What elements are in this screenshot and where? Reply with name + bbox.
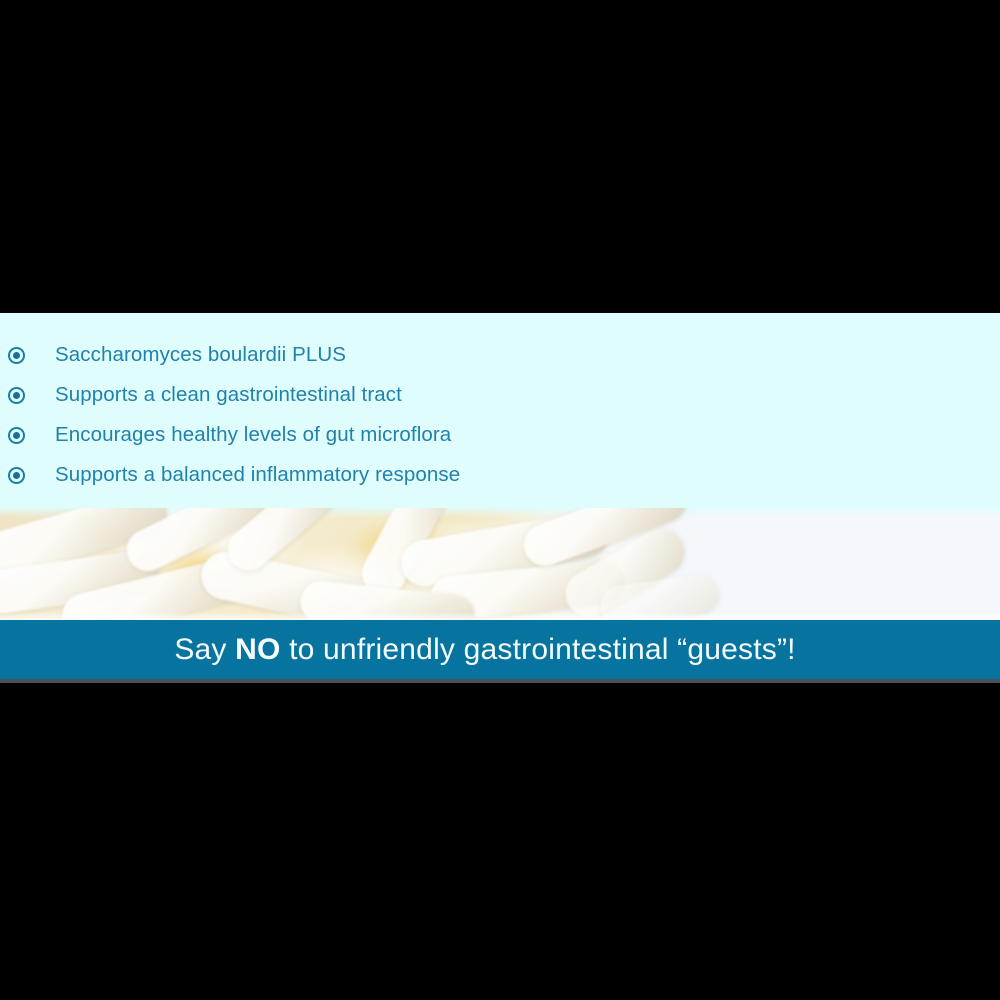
tagline-text: Say NO to unfriendly gastrointestinal “g… — [174, 633, 825, 667]
benefit-label: Supports a clean gastrointestinal tract — [55, 383, 402, 407]
benefit-label: Encourages healthy levels of gut microfl… — [55, 423, 451, 447]
radio-bullet-icon — [8, 467, 25, 484]
benefit-item: Encourages healthy levels of gut microfl… — [8, 415, 508, 455]
benefit-label: Saccharomyces boulardii PLUS — [55, 343, 346, 367]
tagline-suffix: to unfriendly gastrointestinal “guests”! — [281, 633, 796, 666]
benefit-item: Supports a clean gastrointestinal tract — [8, 375, 508, 415]
benefit-label: Supports a balanced inflammatory respons… — [55, 463, 460, 487]
tagline-banner: Say NO to unfriendly gastrointestinal “g… — [0, 620, 1000, 683]
radio-bullet-icon — [8, 427, 25, 444]
tagline-prefix: Say — [174, 633, 235, 666]
tagline-emphasis: NO — [235, 633, 280, 666]
benefit-item: Supports a balanced inflammatory respons… — [8, 455, 508, 495]
radio-bullet-icon — [8, 347, 25, 364]
benefit-item: Saccharomyces boulardii PLUS — [8, 335, 508, 375]
benefits-columns: Saccharomyces boulardii PLUS Supports a … — [0, 313, 1000, 508]
product-banner-graphic: Saccharomyces boulardii PLUS Supports a … — [0, 0, 1000, 1000]
benefits-left-column: Saccharomyces boulardii PLUS Supports a … — [0, 335, 508, 508]
benefits-right-column: Immune system support Mucous membrane ma… — [508, 335, 1000, 508]
radio-bullet-icon — [8, 387, 25, 404]
capsules-photo — [0, 508, 1000, 620]
benefits-panel: Saccharomyces boulardii PLUS Supports a … — [0, 313, 1000, 508]
